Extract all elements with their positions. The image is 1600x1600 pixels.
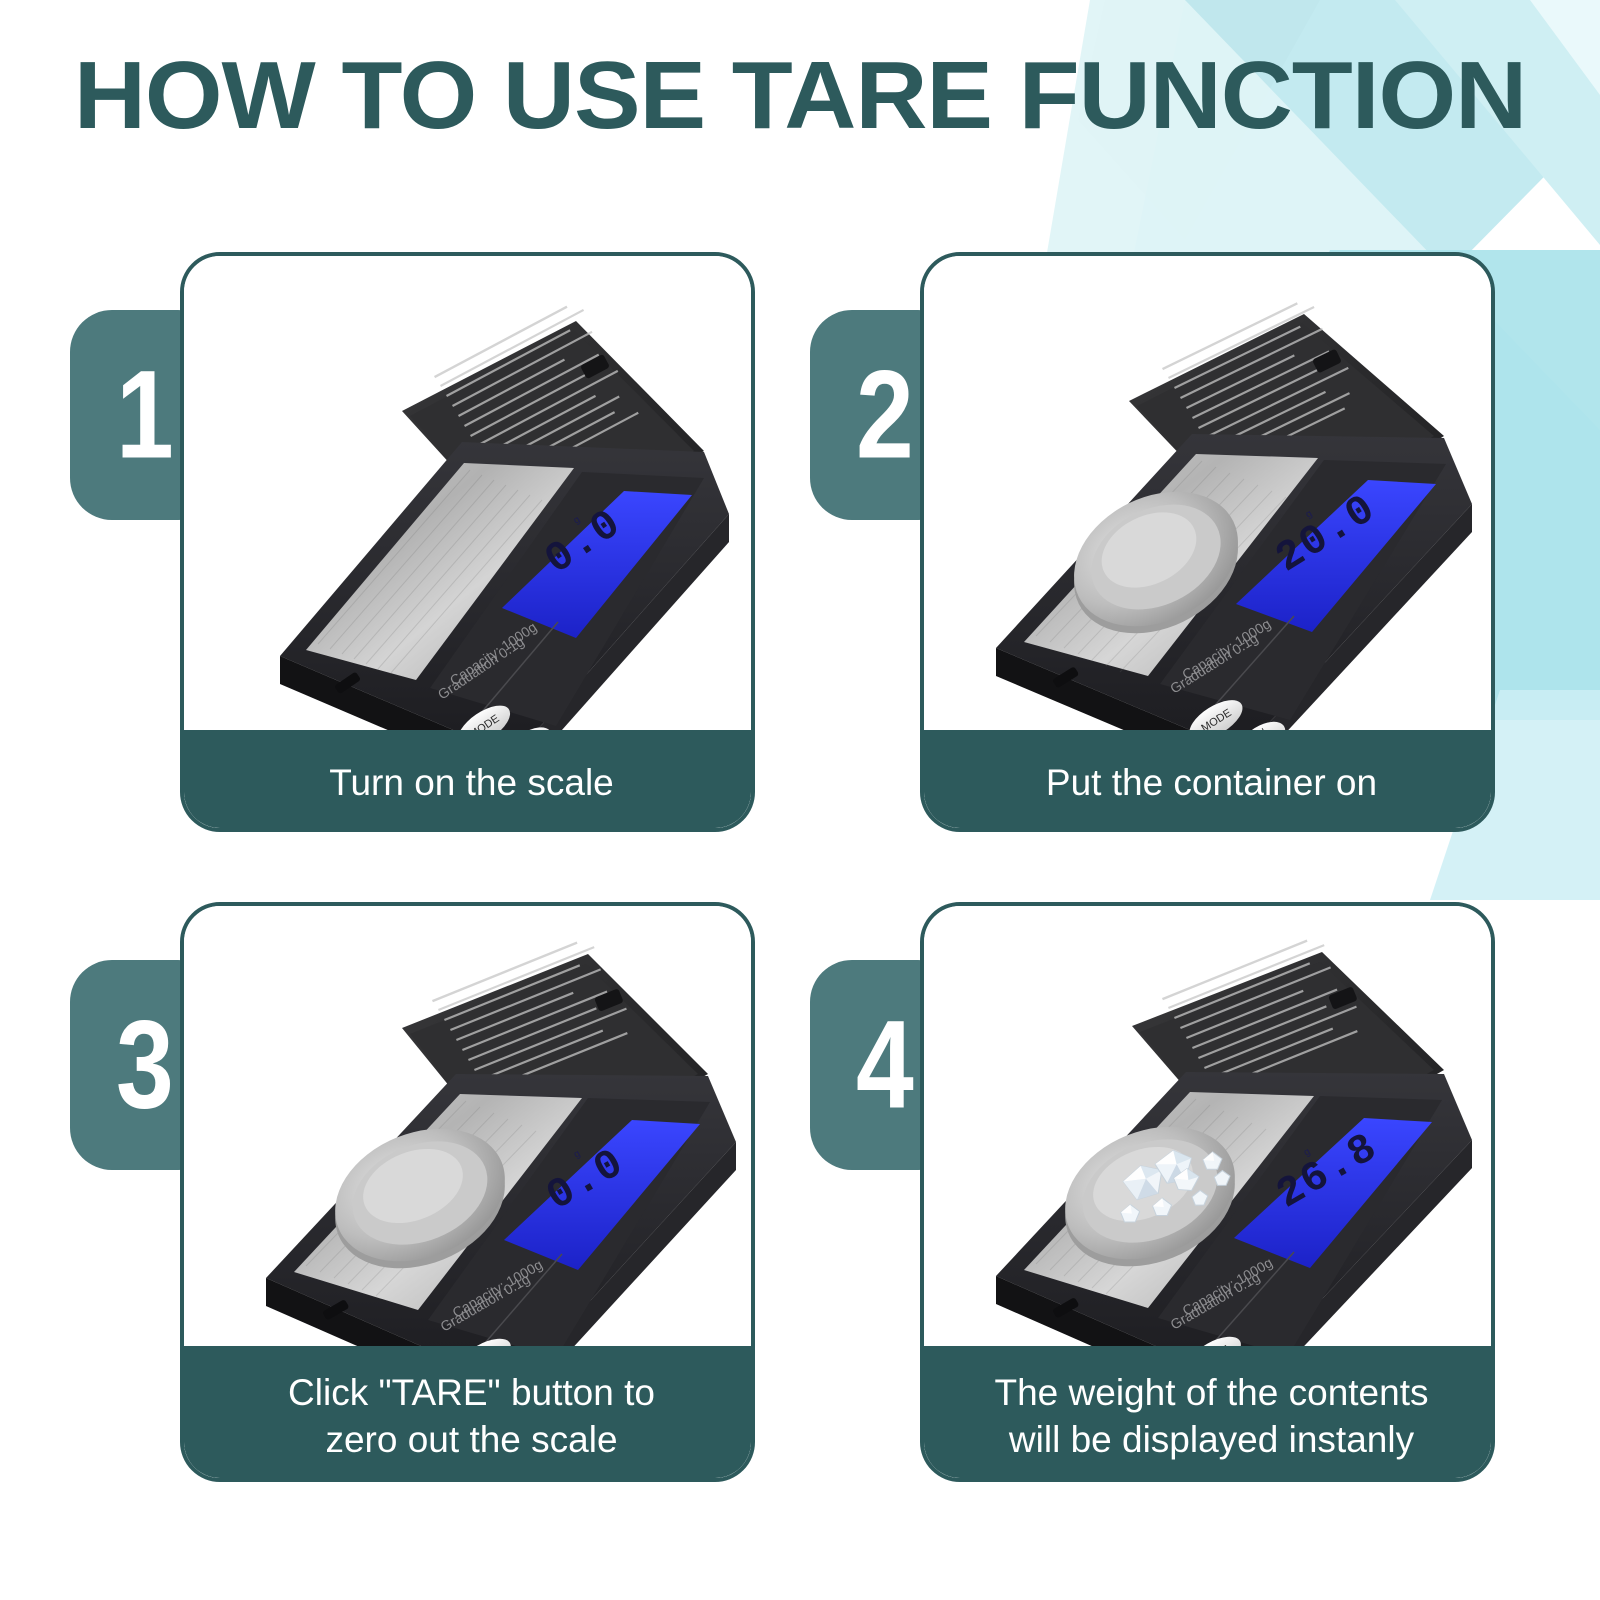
step-caption-4: The weight of the contents will be displ…	[924, 1346, 1495, 1482]
step-number-4: 4	[856, 1002, 914, 1127]
steps-grid: 1	[0, 0, 1600, 1600]
step-card-frame-4: 26.8 g Capacity: 1000g Graduation 0.1g M…	[920, 902, 1495, 1482]
page-title: HOW TO USE TARE FUNCTION	[0, 46, 1600, 147]
step-caption-4-line2: will be displayed instanly	[1009, 1419, 1414, 1460]
step-number-2: 2	[856, 352, 914, 477]
step-number-1: 1	[116, 352, 174, 477]
step-caption-3: Click "TARE" button to zero out the scal…	[184, 1346, 755, 1482]
step-card-frame-3: 0.0 g Capacity: 1000g Graduation 0.1g MO…	[180, 902, 755, 1482]
step-card-3[interactable]: 3	[180, 902, 755, 1482]
step-caption-3-line1: Click "TARE" button to	[288, 1372, 655, 1413]
step-number-3: 3	[116, 1002, 174, 1127]
step-card-1[interactable]: 1	[180, 252, 755, 832]
step-caption-1: Turn on the scale	[184, 730, 755, 832]
step-card-frame-1: 0.0 g Capacity: 1000g Graduation 0.1g MO…	[180, 252, 755, 832]
step-caption-2: Put the container on	[924, 730, 1495, 832]
step-card-frame-2: 20.0 g Capacity: 1000g Graduation 0.1g M…	[920, 252, 1495, 832]
step-caption-4-line1: The weight of the contents	[995, 1372, 1429, 1413]
step-caption-3-line2: zero out the scale	[325, 1419, 617, 1460]
step-card-2[interactable]: 2	[920, 252, 1495, 832]
step-card-4[interactable]: 4	[920, 902, 1495, 1482]
page-title-wrap: HOW TO USE TARE FUNCTION	[0, 46, 1600, 147]
